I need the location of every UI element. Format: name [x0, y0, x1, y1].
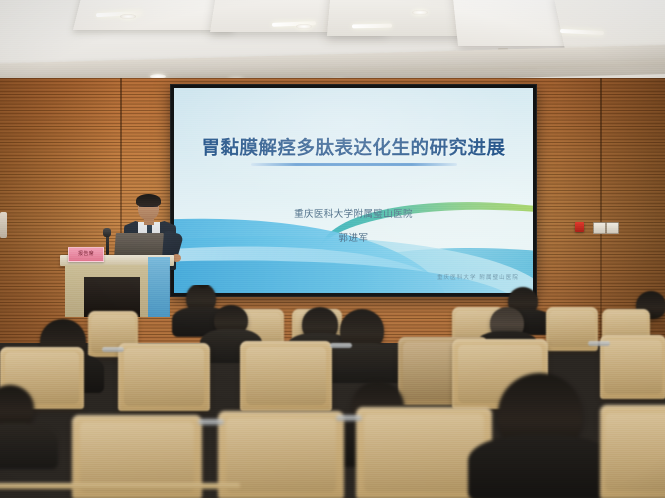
light-switch-plate[interactable] — [606, 222, 619, 234]
seat-armrest — [330, 343, 352, 348]
slide-logo-text: 重庆医科大学 附属璧山医院 — [437, 273, 519, 281]
slide-organization: 重庆医科大学附属璧山医院 — [174, 206, 533, 220]
light-switch-plate[interactable] — [593, 222, 606, 234]
laptop[interactable] — [114, 233, 164, 257]
audience-seating-area — [0, 285, 665, 498]
audience-shoulders — [322, 343, 402, 383]
seat-armrest — [336, 415, 362, 421]
podium-nameplate: 报告席 — [68, 247, 104, 262]
audience-shoulders — [468, 435, 614, 498]
ceiling-downlight — [120, 14, 136, 19]
fire-alarm-icon — [575, 222, 584, 232]
slide-title: 胃黏膜解痉多肽表达化生的研究进展 — [174, 134, 533, 160]
microphone-icon — [103, 228, 111, 237]
ceiling-light-bar — [352, 24, 392, 29]
wall-speaker — [0, 212, 7, 238]
seat[interactable] — [240, 341, 332, 411]
seat-armrest — [588, 341, 610, 346]
lecture-hall-photo: 胃黏膜解痉多肽表达化生的研究进展 重庆医科大学附属璧山医院 郭进军 重庆医科大学… — [0, 0, 665, 498]
projection-screen: 胃黏膜解痉多肽表达化生的研究进展 重庆医科大学附属璧山医院 郭进军 重庆医科大学… — [170, 84, 537, 297]
seat[interactable] — [600, 335, 665, 399]
seat-armrest — [102, 347, 124, 352]
glasses-icon — [139, 206, 158, 211]
seat[interactable] — [118, 343, 210, 411]
presentation-slide: 胃黏膜解痉多肽表达化生的研究进展 重庆医科大学附属璧山医院 郭进军 重庆医科大学… — [174, 88, 533, 293]
audience-shoulders — [0, 423, 58, 469]
desk-edge — [0, 483, 240, 489]
seat[interactable] — [600, 405, 665, 498]
slide-text-content: 胃黏膜解痉多肽表达化生的研究进展 重庆医科大学附属璧山医院 郭进军 重庆医科大学… — [174, 88, 533, 293]
ceiling-downlight — [412, 10, 428, 15]
podium-nameplate-text: 报告席 — [69, 248, 103, 260]
seat-armrest — [198, 419, 224, 425]
ceiling-downlight — [296, 24, 312, 29]
slide-presenter-name: 郭进军 — [174, 230, 533, 244]
slide-title-divider — [251, 163, 457, 166]
